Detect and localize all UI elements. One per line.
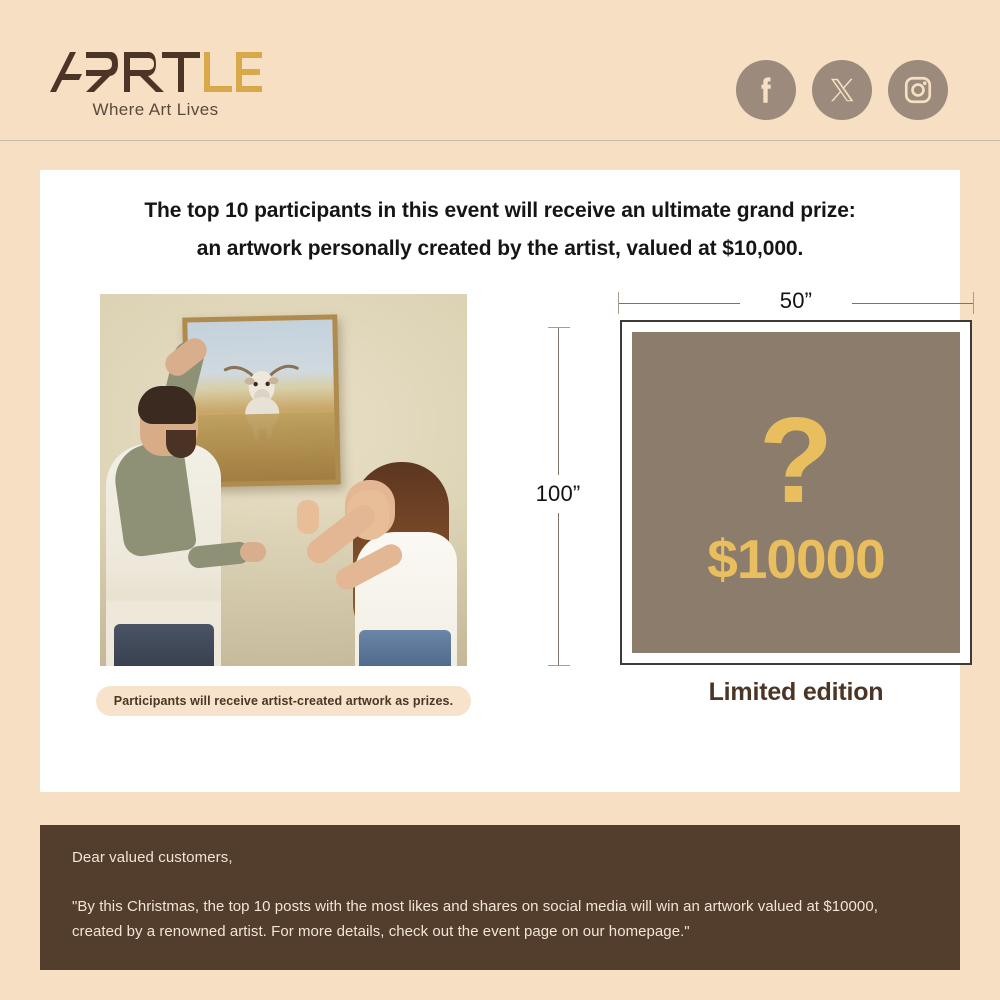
person-man-hair	[138, 386, 196, 424]
photo-caption: Participants will receive artist-created…	[96, 686, 471, 716]
artwork-spec-diagram: 50” 100” ? $10000 Limited edition	[500, 280, 940, 760]
headline-line-2: an artwork personally created by the art…	[40, 230, 960, 268]
person-woman-jeans	[359, 630, 451, 666]
width-tick-right	[973, 292, 974, 314]
social-link-instagram[interactable]	[888, 60, 948, 120]
artwork-price-value: $10000	[707, 527, 885, 591]
limited-edition-label: Limited edition	[620, 678, 972, 707]
prize-photo	[100, 294, 467, 666]
height-dimension-label: 100”	[506, 475, 610, 513]
headline-line-1: The top 10 participants in this event wi…	[144, 199, 855, 222]
x-twitter-icon	[827, 75, 857, 105]
height-tick-top	[548, 327, 570, 328]
instagram-icon	[902, 74, 934, 106]
person-man-jeans	[114, 624, 214, 666]
header-divider	[0, 140, 1000, 141]
brand-logo[interactable]: Where Art Lives	[48, 48, 348, 120]
width-tick-left	[618, 292, 619, 314]
page-header: Where Art Lives	[0, 0, 1000, 141]
width-dimension-label: 50”	[740, 288, 852, 314]
brand-tagline: Where Art Lives	[48, 100, 263, 120]
person-woman-hand	[297, 500, 319, 534]
social-links	[736, 60, 948, 120]
arrtle-wordmark-icon	[48, 48, 263, 94]
social-link-x[interactable]	[812, 60, 872, 120]
mystery-artwork-frame: ? $10000	[620, 320, 972, 665]
social-link-facebook[interactable]	[736, 60, 796, 120]
mystery-artwork-canvas: ? $10000	[632, 332, 960, 653]
page-title: The top 10 participants in this event wi…	[40, 192, 960, 268]
page-footer: Dear valued customers, "By this Christma…	[40, 825, 960, 970]
facebook-icon	[749, 73, 783, 107]
main-content-card: The top 10 participants in this event wi…	[40, 170, 960, 792]
footer-message: "By this Christmas, the top 10 posts wit…	[72, 894, 928, 944]
question-mark-icon: ?	[759, 404, 834, 516]
photo-scene	[100, 294, 467, 666]
height-tick-bottom	[548, 665, 570, 666]
footer-greeting: Dear valued customers,	[72, 849, 928, 866]
person-man-lower-hand	[240, 542, 266, 562]
